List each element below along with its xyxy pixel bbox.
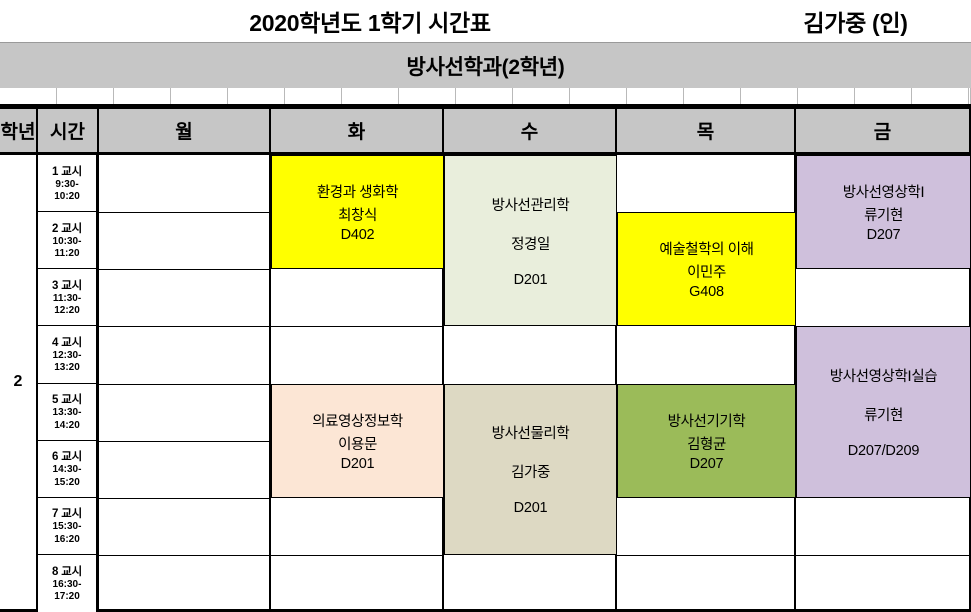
period-start-time: 14:30- xyxy=(53,464,82,477)
period-end-time: 13:20 xyxy=(54,362,80,375)
column-header-day-월: 월 xyxy=(99,107,271,155)
slot-divider xyxy=(99,269,269,270)
class-name: 방사선관리학 xyxy=(492,194,570,215)
slot-divider xyxy=(99,498,269,499)
period-number: 8 교시 xyxy=(52,563,82,579)
period-start-time: 9:30- xyxy=(55,179,78,192)
period-number: 1 교시 xyxy=(52,163,82,179)
period-row-4: 4 교시12:30-13:20 xyxy=(38,326,96,383)
slot-divider xyxy=(99,441,269,442)
class-room: D201 xyxy=(514,272,548,288)
slot-divider xyxy=(617,555,794,556)
ruler-tick xyxy=(570,88,627,104)
class-professor: 이용문 xyxy=(338,433,377,454)
ruler-tick xyxy=(399,88,456,104)
slot-divider xyxy=(796,555,969,556)
class-room: D201 xyxy=(514,500,548,516)
ruler-tick xyxy=(855,88,912,104)
class-room: D207/D209 xyxy=(848,443,920,459)
timetable-sheet: 2020학년도 1학기 시간표 김가중 (인) 방사선학과(2학년) 학년시간월… xyxy=(0,0,971,612)
class-block-목-2[interactable]: 예술철학의 이해이민주G408 xyxy=(617,212,796,326)
column-header-day-금: 금 xyxy=(796,107,971,155)
class-block-목-5[interactable]: 방사선기기학김형균D207 xyxy=(617,384,796,498)
ruler-tick xyxy=(171,88,228,104)
teacher-signature: 김가중 (인) xyxy=(740,0,971,42)
column-header-time: 시간 xyxy=(38,107,99,155)
class-room: D207 xyxy=(690,456,724,472)
class-name: 방사선영상학Ⅰ실습 xyxy=(830,365,937,386)
slot-divider xyxy=(99,326,269,327)
title-row: 2020학년도 1학기 시간표 김가중 (인) xyxy=(0,0,971,42)
class-name: 환경과 생화학 xyxy=(317,181,398,202)
class-block-금-4[interactable]: 방사선영상학Ⅰ실습류기현D207/D209 xyxy=(796,326,971,497)
slot-divider xyxy=(271,555,442,556)
column-header-grade: 학년 xyxy=(0,107,38,155)
period-row-1: 1 교시9:30-10:20 xyxy=(38,155,96,212)
period-number: 2 교시 xyxy=(52,220,82,236)
period-end-time: 15:20 xyxy=(54,477,80,490)
column-header-day-목: 목 xyxy=(617,107,796,155)
ruler-tick xyxy=(114,88,171,104)
ruler-tick xyxy=(912,88,969,104)
class-name: 방사선기기학 xyxy=(668,410,746,431)
period-end-time: 11:20 xyxy=(54,248,79,261)
period-number: 4 교시 xyxy=(52,334,82,350)
class-name: 의료영상정보학 xyxy=(312,410,403,431)
class-name: 방사선영상학Ⅰ xyxy=(843,181,925,202)
class-professor: 정경일 xyxy=(511,233,550,254)
period-row-8: 8 교시16:30-17:20 xyxy=(38,555,96,612)
period-start-time: 11:30- xyxy=(53,293,81,306)
class-professor: 류기현 xyxy=(864,404,903,425)
ruler-tick xyxy=(798,88,855,104)
period-number: 5 교시 xyxy=(52,391,82,407)
class-block-금-1[interactable]: 방사선영상학Ⅰ류기현D207 xyxy=(796,155,971,269)
period-end-time: 16:20 xyxy=(54,534,80,547)
class-block-화-1[interactable]: 환경과 생화학최창식D402 xyxy=(271,155,444,269)
ruler-tick xyxy=(684,88,741,104)
slot-divider xyxy=(271,326,442,327)
class-room: D201 xyxy=(341,456,375,472)
grade-value: 2 xyxy=(0,155,38,612)
department-band: 방사선학과(2학년) xyxy=(0,42,971,88)
class-room: D402 xyxy=(341,227,375,243)
class-professor: 김형균 xyxy=(687,433,726,454)
page-title: 2020학년도 1학기 시간표 xyxy=(0,0,740,42)
period-row-7: 7 교시15:30-16:20 xyxy=(38,498,96,555)
ruler-tick xyxy=(228,88,285,104)
ruler-tick xyxy=(627,88,684,104)
period-start-time: 13:30- xyxy=(53,407,82,420)
class-name: 예술철학의 이해 xyxy=(659,238,753,259)
day-column-월 xyxy=(99,155,271,612)
ruler-tick xyxy=(57,88,114,104)
column-ruler-strip xyxy=(0,88,971,107)
period-number: 7 교시 xyxy=(52,505,82,521)
class-professor: 김가중 xyxy=(511,461,550,482)
ruler-tick xyxy=(456,88,513,104)
period-column: 1 교시9:30-10:202 교시10:30-11:203 교시11:30-1… xyxy=(38,155,99,612)
class-room: G408 xyxy=(689,284,724,300)
period-end-time: 17:20 xyxy=(54,591,80,604)
ruler-tick xyxy=(342,88,399,104)
class-name: 방사선물리학 xyxy=(492,422,570,443)
class-block-수-5[interactable]: 방사선물리학김가중D201 xyxy=(444,384,617,555)
period-row-6: 6 교시14:30-15:20 xyxy=(38,441,96,498)
period-number: 6 교시 xyxy=(52,448,82,464)
class-block-화-5[interactable]: 의료영상정보학이용문D201 xyxy=(271,384,444,498)
class-professor: 이민주 xyxy=(687,261,726,282)
timetable-grid: 학년시간월화수목금21 교시9:30-10:202 교시10:30-11:203… xyxy=(0,107,971,612)
slot-divider xyxy=(99,555,269,556)
period-end-time: 12:20 xyxy=(54,305,80,318)
ruler-tick xyxy=(285,88,342,104)
ruler-tick xyxy=(513,88,570,104)
period-start-time: 16:30- xyxy=(53,579,82,592)
period-start-time: 15:30- xyxy=(53,521,82,534)
period-row-2: 2 교시10:30-11:20 xyxy=(38,212,96,269)
class-block-수-1[interactable]: 방사선관리학정경일D201 xyxy=(444,155,617,326)
period-number: 3 교시 xyxy=(52,277,82,293)
period-end-time: 10:20 xyxy=(54,191,80,204)
period-row-3: 3 교시11:30-12:20 xyxy=(38,269,96,326)
class-professor: 류기현 xyxy=(864,204,903,225)
period-end-time: 14:20 xyxy=(54,420,80,433)
class-room: D207 xyxy=(867,227,901,243)
class-professor: 최창식 xyxy=(338,204,377,225)
ruler-tick xyxy=(741,88,798,104)
ruler-tick xyxy=(0,88,57,104)
period-start-time: 10:30- xyxy=(53,236,82,249)
column-header-day-수: 수 xyxy=(444,107,617,155)
period-start-time: 12:30- xyxy=(53,350,82,363)
slot-divider xyxy=(99,384,269,385)
period-row-5: 5 교시13:30-14:20 xyxy=(38,384,96,441)
column-header-day-화: 화 xyxy=(271,107,444,155)
slot-divider xyxy=(99,212,269,213)
